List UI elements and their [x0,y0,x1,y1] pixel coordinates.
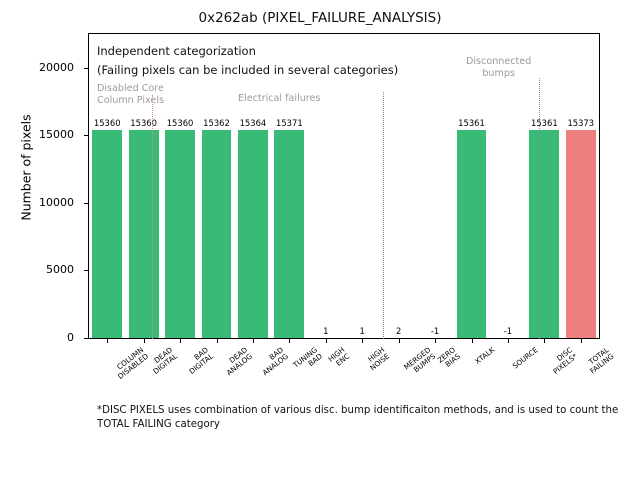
annotation-disconnected-bumps: Disconnected bumps [466,56,531,79]
annotation-electrical-failures: Electrical failures [238,93,320,105]
annotation-line-1: Independent categorization [97,44,256,58]
x-tick-label: BAD ANALOG [256,346,290,377]
bar-value-label: 15361 [453,118,489,128]
bar-value-label: -1 [490,326,526,336]
x-tick-label: DISC PIXELS* [547,346,579,376]
x-tick-label: BAD DIGITAL [183,346,215,376]
bar[interactable] [165,130,195,338]
annotation-independent-categorization: Independent categorization(Failing pixel… [97,42,398,80]
x-tick-label: MERGED BUMPS [402,346,437,378]
x-tick-mark [289,339,290,343]
y-tick-label: 15000 [0,128,74,141]
bar-value-label: 15360 [89,118,125,128]
bar-value-label: -1 [417,326,453,336]
x-tick-mark [508,339,509,343]
y-tick-label: 5000 [0,263,74,276]
x-tick-mark [144,339,145,343]
x-tick-label: XTALK [473,346,495,366]
x-tick-mark [399,339,400,343]
bar-value-label: 1 [308,326,344,336]
bar[interactable] [202,130,232,338]
bar-value-label: 15360 [162,118,198,128]
divider-electrical [383,92,384,339]
bar[interactable] [92,130,122,338]
bar-value-label: 15361 [526,118,562,128]
x-tick-label: HIGH NOISE [364,346,391,372]
x-tick-mark [326,339,327,343]
bar-value-label: 2 [380,326,416,336]
x-tick-mark [180,339,181,343]
x-tick-label: SOURCE [511,346,539,371]
bar[interactable] [529,130,559,338]
bar-value-label: 1 [344,326,380,336]
bar[interactable] [457,130,487,338]
annotation-disabled-core-column-pixels: Disabled Core Column Pixels [97,83,164,106]
x-tick-mark [107,339,108,343]
annotation-line-2: (Failing pixels can be included in sever… [97,63,398,77]
bar-value-label: 15362 [198,118,234,128]
bar-value-label: 15373 [563,118,599,128]
x-tick-mark [217,339,218,343]
bar-value-label: 15364 [235,118,271,128]
x-tick-label: DEAD ANALOG [220,346,254,377]
divider-column-disabled [152,95,153,339]
chart-footnote: *DISC PIXELS uses combination of various… [97,404,627,432]
chart-title: 0x262ab (PIXEL_FAILURE_ANALYSIS) [0,10,640,26]
bar[interactable] [238,130,268,338]
chart-root: 0x262ab (PIXEL_FAILURE_ANALYSIS) Number … [0,0,640,480]
x-tick-label: ZERO BIAS [436,346,462,371]
x-tick-mark [435,339,436,343]
y-axis: Number of pixels 05000100001500020000 [0,0,88,480]
x-tick-label: TOTAL FAILING [584,346,616,376]
x-tick-label: HIGH ENC [327,346,351,370]
bar-value-label: 15371 [271,118,307,128]
x-tick-label: TUNING BAD [292,346,324,376]
bar[interactable] [566,130,596,338]
divider-disconnected-bumps [539,78,540,339]
x-tick-label: COLUMN DISABLED [112,346,150,381]
bar-value-label: 15360 [125,118,161,128]
y-axis-title: Number of pixels [19,68,34,268]
x-tick-mark [253,339,254,343]
bar[interactable] [274,130,304,338]
y-tick-label: 10000 [0,196,74,209]
x-tick-mark [472,339,473,343]
y-tick-label: 20000 [0,61,74,74]
x-tick-mark [544,339,545,343]
x-tick-label: DEAD DIGITAL [147,346,179,376]
x-tick-mark [362,339,363,343]
y-tick-label: 0 [0,331,74,344]
x-tick-mark [581,339,582,343]
bar[interactable] [129,130,159,338]
